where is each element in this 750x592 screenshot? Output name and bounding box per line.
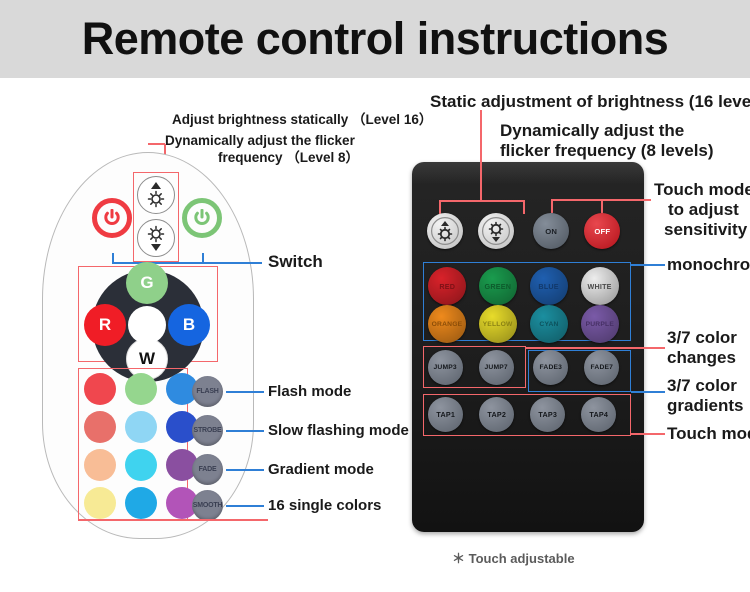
blue-button[interactable]: BLUE <box>530 267 568 305</box>
brightness-down-button[interactable] <box>137 219 175 257</box>
sun-down-icon <box>143 223 169 253</box>
jump7-button-label: JUMP7 <box>485 364 508 371</box>
label-color-gradients-line2: gradients <box>667 396 744 416</box>
sun-up-icon <box>430 216 460 246</box>
BLUE-label: BLUE <box>539 282 559 291</box>
connector-flash <box>226 391 264 393</box>
off-button[interactable]: OFF <box>584 213 620 249</box>
white-button[interactable]: WHITE <box>581 267 619 305</box>
flash-mode-button[interactable]: FLASH <box>192 376 223 407</box>
bracket-brightness-left <box>439 200 441 214</box>
label-touch-mode-line2: to adjust <box>668 200 739 220</box>
yellow-button[interactable]: YELLOW <box>479 305 517 343</box>
wheel-red-label: R <box>99 315 111 335</box>
label-switch: Switch <box>268 252 323 272</box>
purple-button[interactable]: PURPLE <box>581 305 619 343</box>
cyan-button[interactable]: CYAN <box>530 305 568 343</box>
connector-brightness-top-vert <box>480 110 482 150</box>
off-button-label: OFF <box>594 227 610 236</box>
wheel-center-button[interactable] <box>128 306 166 344</box>
label-gradient-mode: Gradient mode <box>268 461 374 479</box>
label-flicker-dynamic-line2: frequency （Level 8） <box>218 150 359 166</box>
connector-color-changes <box>526 347 665 349</box>
label-color-changes-line1: 3/7 color <box>667 328 737 348</box>
YELLOW-label: YELLOW <box>483 321 513 328</box>
smooth-mode-label: SMOOTH <box>193 502 223 509</box>
label-static-brightness: Static adjustment of brightness (16 leve… <box>430 92 750 112</box>
label-16-single-colors: 16 single colors <box>268 497 381 515</box>
color-swatch-2[interactable] <box>125 373 157 405</box>
color-swatch-1[interactable] <box>84 373 116 405</box>
label-color-changes-line2: changes <box>667 348 736 368</box>
brightness-up-button-ir[interactable] <box>427 213 463 249</box>
color-swatch-8[interactable] <box>125 449 157 481</box>
jump7-button[interactable]: JUMP7 <box>479 350 514 385</box>
strobe-mode-label: STROBE <box>194 427 222 434</box>
ORANGE-label: ORANGE <box>432 321 463 328</box>
fade3-button-label: FADE3 <box>539 364 562 371</box>
power-icon <box>103 209 121 227</box>
fade7-button[interactable]: FADE7 <box>584 350 619 385</box>
connector-fade <box>226 469 264 471</box>
power-icon <box>193 209 211 227</box>
bracket-brightness-right <box>523 200 525 214</box>
wheel-blue-label: B <box>183 315 195 335</box>
wheel-red-button[interactable]: R <box>84 304 126 346</box>
WHITE-label: WHITE <box>588 282 612 291</box>
label-touch-mode: Touch mode <box>667 424 750 444</box>
footer-note: ＊ Touch adjustable <box>452 548 575 567</box>
sun-down-icon <box>481 216 511 246</box>
smooth-mode-button[interactable]: SMOOTH <box>192 490 223 521</box>
label-slow-flashing-mode: Slow flashing mode <box>268 422 409 440</box>
connector-touch-mode <box>631 433 665 435</box>
color-swatch-4[interactable] <box>84 411 116 443</box>
connector-brightness-horiz <box>148 143 165 145</box>
CYAN-label: CYAN <box>539 321 558 328</box>
wheel-green-button[interactable]: G <box>126 262 168 304</box>
RED-label: RED <box>439 282 455 291</box>
on-button[interactable]: ON <box>533 213 569 249</box>
connector-strobe <box>226 430 264 432</box>
color-swatch-5[interactable] <box>125 411 157 443</box>
brightness-up-button[interactable] <box>137 176 175 214</box>
color-grid[interactable] <box>84 373 199 520</box>
fade3-button[interactable]: FADE3 <box>533 350 568 385</box>
bracket-touch-right <box>601 199 603 213</box>
jump3-button-label: JUMP3 <box>434 364 457 371</box>
label-touch-mode-line3: sensitivity <box>664 220 747 240</box>
sun-up-icon <box>143 180 169 210</box>
on-button-label: ON <box>545 227 557 236</box>
color-swatch-11[interactable] <box>125 487 157 519</box>
label-brightness-static: Adjust brightness statically （Level 16） <box>172 112 432 128</box>
power-on-button[interactable] <box>182 198 222 238</box>
label-touch-mode-line1: Touch mode <box>654 180 750 200</box>
color-swatch-10[interactable] <box>84 487 116 519</box>
flash-mode-label: FLASH <box>196 388 218 395</box>
strobe-mode-button[interactable]: STROBE <box>192 415 223 446</box>
tap1-button[interactable]: TAP1 <box>428 397 463 432</box>
wheel-white-label: W <box>139 349 155 369</box>
label-dynamic-flicker-line2: flicker frequency (8 levels) <box>500 141 714 161</box>
power-off-button[interactable] <box>92 198 132 238</box>
label-monochrome: monochrome <box>667 255 750 275</box>
brightness-down-button-ir[interactable] <box>478 213 514 249</box>
green-button[interactable]: GREEN <box>479 267 517 305</box>
bracket-brightness-horiz <box>439 200 524 202</box>
page-root: Remote control instructions Adjust brigh… <box>0 0 750 592</box>
jump3-button[interactable]: JUMP3 <box>428 350 463 385</box>
orange-button[interactable]: ORANGE <box>428 305 466 343</box>
fade7-button-label: FADE7 <box>590 364 613 371</box>
connector-monochrome <box>631 264 665 266</box>
wheel-green-label: G <box>140 273 153 293</box>
GREEN-label: GREEN <box>485 282 512 291</box>
tap3-button-label: TAP3 <box>538 410 557 419</box>
PURPLE-label: PURPLE <box>586 321 614 328</box>
connector-switch-horiz <box>112 262 262 264</box>
tap3-button[interactable]: TAP3 <box>530 397 565 432</box>
wheel-blue-button[interactable]: B <box>168 304 210 346</box>
connector-smooth <box>226 505 264 507</box>
label-flash-mode: Flash mode <box>268 383 351 401</box>
tap2-button-label: TAP2 <box>487 410 506 419</box>
fade-mode-label: FADE <box>199 466 217 473</box>
left-bottom-bracket <box>78 519 268 521</box>
bracket-touch-left <box>551 199 553 213</box>
label-flicker-dynamic-line1: Dynamically adjust the flicker <box>165 133 355 149</box>
connector-color-gradients <box>631 391 665 393</box>
label-color-gradients-line1: 3/7 color <box>667 376 737 396</box>
label-dynamic-flicker-line1: Dynamically adjust the <box>500 121 684 141</box>
tap4-button-label: TAP4 <box>589 410 608 419</box>
tap1-button-label: TAP1 <box>436 410 455 419</box>
bracket-brightness-stem <box>480 150 482 200</box>
page-title: Remote control instructions <box>0 6 750 72</box>
tap2-button[interactable]: TAP2 <box>479 397 514 432</box>
red-button[interactable]: RED <box>428 267 466 305</box>
fade-mode-button[interactable]: FADE <box>192 454 223 485</box>
color-swatch-7[interactable] <box>84 449 116 481</box>
tap4-button[interactable]: TAP4 <box>581 397 616 432</box>
